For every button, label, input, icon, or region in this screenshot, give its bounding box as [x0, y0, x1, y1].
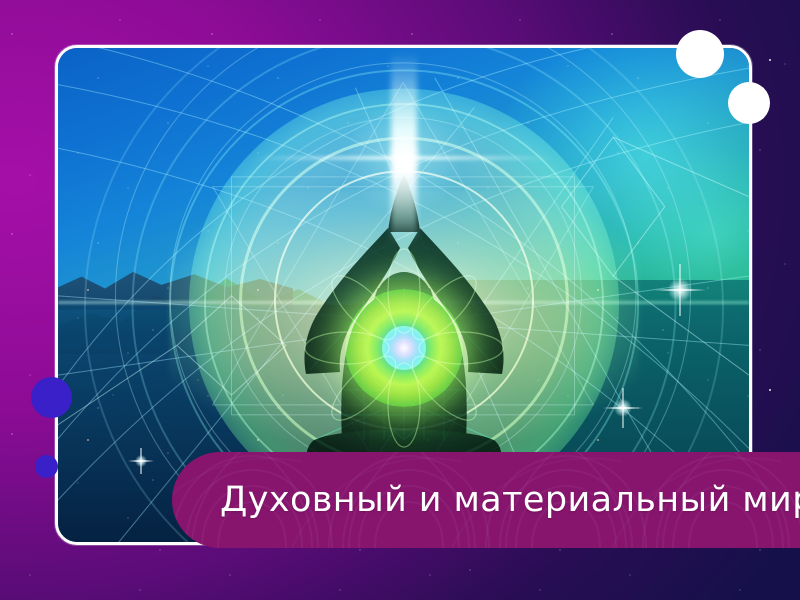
title-banner: Духовный и материальный мир — [172, 452, 800, 548]
decor-white-circle-small — [728, 82, 770, 124]
chakra-orb-core — [382, 326, 426, 370]
light-beam-star — [329, 83, 479, 233]
page-title: Духовный и материальный мир — [220, 480, 800, 520]
slide-canvas: Духовный и материальный мир — [0, 0, 800, 600]
decor-blue-circle-small — [35, 455, 58, 478]
decor-white-circle-large — [676, 30, 724, 78]
decor-blue-circle-large — [31, 377, 72, 418]
